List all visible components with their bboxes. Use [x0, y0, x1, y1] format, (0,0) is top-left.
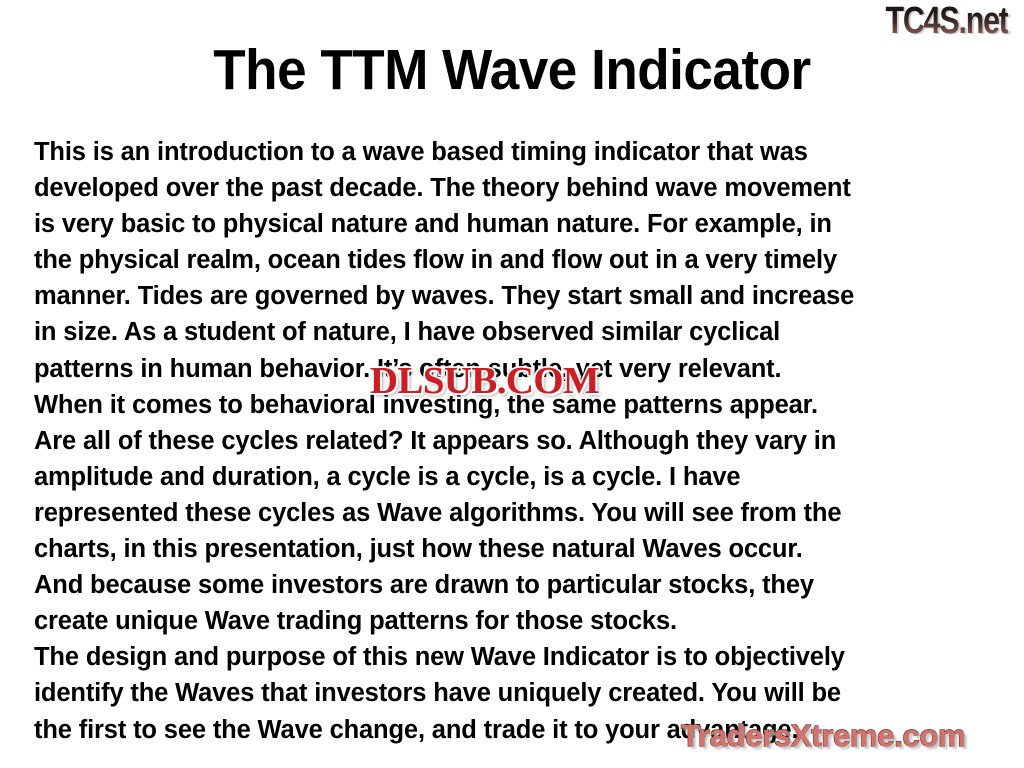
body-line: This is an introduction to a wave based … [34, 134, 996, 170]
body-line: charts, in this presentation, just how t… [34, 531, 996, 567]
body-text-block: This is an introduction to a wave based … [34, 134, 996, 748]
body-line: The design and purpose of this new Wave … [34, 639, 996, 675]
body-line: developed over the past decade. The theo… [34, 170, 996, 206]
body-line: the physical realm, ocean tides flow in … [34, 242, 996, 278]
body-line: identify the Waves that investors have u… [34, 675, 996, 711]
tc4s-logo: TC4S.net [886, 2, 1008, 40]
body-line: create unique Wave trading patterns for … [34, 603, 996, 639]
body-line: And because some investors are drawn to … [34, 567, 996, 603]
body-line: Are all of these cycles related? It appe… [34, 423, 996, 459]
body-line: is very basic to physical nature and hum… [34, 206, 996, 242]
body-line: amplitude and duration, a cycle is a cyc… [34, 459, 996, 495]
body-line: manner. Tides are governed by waves. The… [34, 278, 996, 314]
slide-canvas: TC4S.net TC4S.net The TTM Wave Indicator… [0, 0, 1024, 768]
body-line: in size. As a student of nature, I have … [34, 314, 996, 350]
page-title: The TTM Wave Indicator [36, 42, 988, 99]
dlsub-watermark-fill: DLSUB.COM [370, 362, 599, 400]
tradersxtreme-logo: TradersXtreme.com [681, 718, 965, 754]
body-line: represented these cycles as Wave algorit… [34, 495, 996, 531]
